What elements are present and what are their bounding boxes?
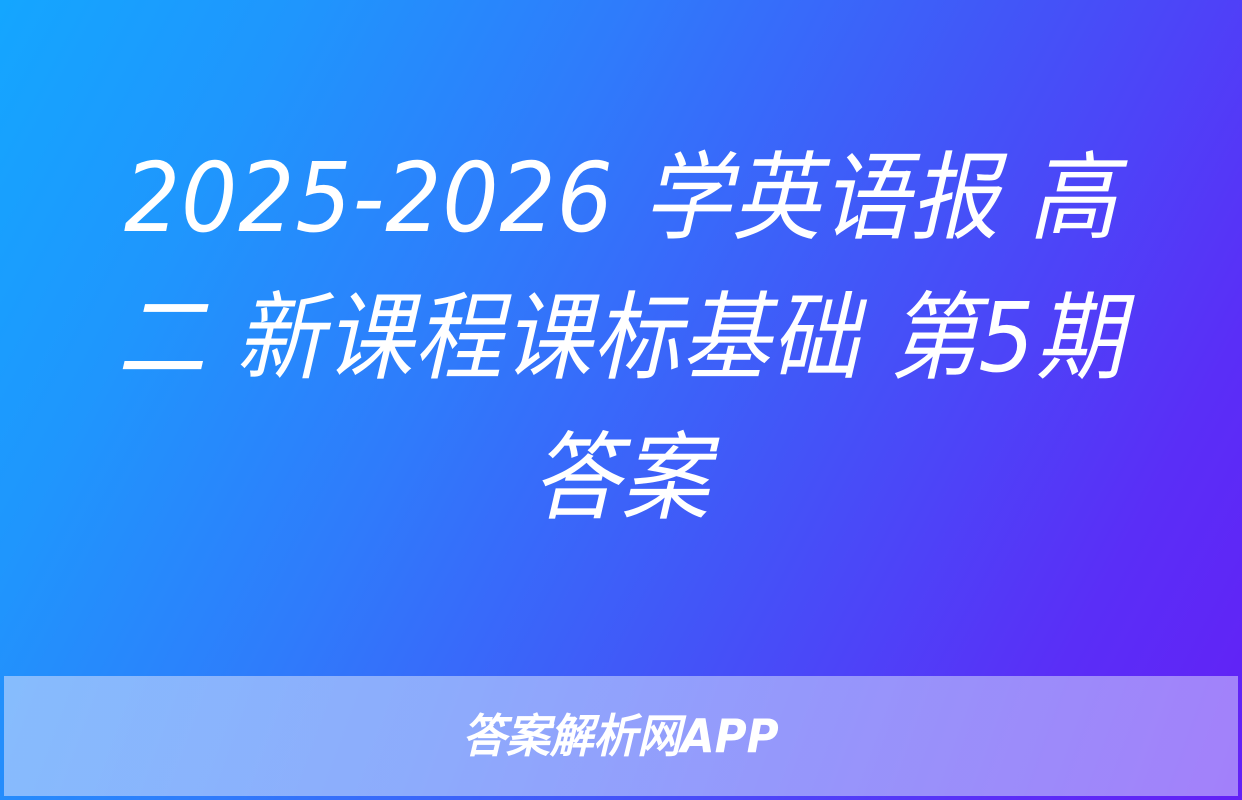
poster-canvas: 2025-2026 学英语报 高二 新课程课标基础 第5期答案 答案解析网APP [0, 0, 1242, 800]
app-watermark-label: 答案解析网APP [463, 713, 779, 759]
headline-container: 2025-2026 学英语报 高二 新课程课标基础 第5期答案 [0, 0, 1242, 676]
page-title: 2025-2026 学英语报 高二 新课程课标基础 第5期答案 [81, 128, 1161, 548]
watermark-bar: 答案解析网APP [4, 676, 1238, 796]
